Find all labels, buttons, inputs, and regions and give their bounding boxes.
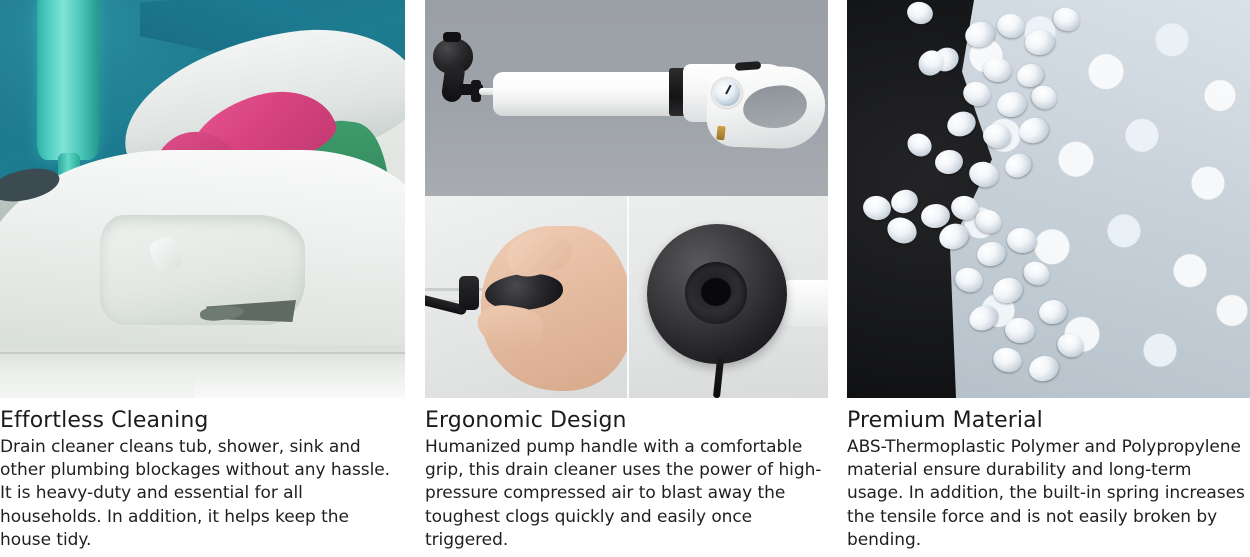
feature-grid: Effortless Cleaning Drain cleaner cleans… — [0, 0, 1250, 557]
feature-text-block: Effortless Cleaning Drain cleaner cleans… — [0, 398, 405, 552]
pellet — [933, 148, 964, 176]
feature-card-premium-material: Premium Material ABS-Thermoplastic Polym… — [847, 0, 1250, 557]
drain-cutaway-illustration — [0, 0, 405, 398]
white-pipe-stub — [781, 280, 828, 326]
feature-description: Drain cleaner cleans tub, shower, sink a… — [0, 436, 405, 552]
bulb-connector — [459, 276, 479, 310]
hand-gripping-bulb-photo — [425, 196, 627, 398]
pump-barrel — [493, 72, 673, 116]
rubber-seal-head-photo — [629, 196, 828, 398]
feature-card-ergonomic-design: Ergonomic Design Humanized pump handle w… — [425, 0, 828, 557]
brass-nozzle-fitting — [716, 126, 725, 141]
pellet — [905, 0, 936, 27]
pellet — [944, 107, 980, 140]
pellet — [861, 194, 893, 222]
pellet — [888, 186, 921, 216]
feature-description: Humanized pump handle with a comfortable… — [425, 436, 828, 552]
pump-tool-hero-photo — [425, 0, 828, 196]
pump-tool-subphotos — [425, 196, 828, 398]
seal-center-hole — [701, 278, 731, 306]
feature-title: Ergonomic Design — [425, 407, 828, 434]
pellet — [903, 129, 936, 161]
cyan-cylinder — [37, 0, 99, 160]
countertop-step — [195, 366, 405, 398]
pellet — [883, 213, 921, 248]
rubber-bulb-cap — [443, 32, 461, 42]
feature-card-effortless-cleaning: Effortless Cleaning Drain cleaner cleans… — [0, 0, 405, 557]
gauge-needle — [725, 85, 731, 95]
plastic-resin-pellets — [847, 0, 1250, 398]
feature-text-block: Ergonomic Design Humanized pump handle w… — [425, 398, 828, 552]
countertop-edge-line — [0, 352, 405, 354]
feature-description: ABS-Thermoplastic Polymer and Polypropyl… — [847, 436, 1250, 552]
feature-title: Effortless Cleaning — [0, 407, 405, 434]
feature-text-block: Premium Material ABS-Thermoplastic Polym… — [847, 398, 1250, 552]
pump-tool-composite — [425, 0, 828, 398]
feature-title: Premium Material — [847, 407, 1250, 434]
pressure-gauge-icon — [712, 78, 742, 108]
